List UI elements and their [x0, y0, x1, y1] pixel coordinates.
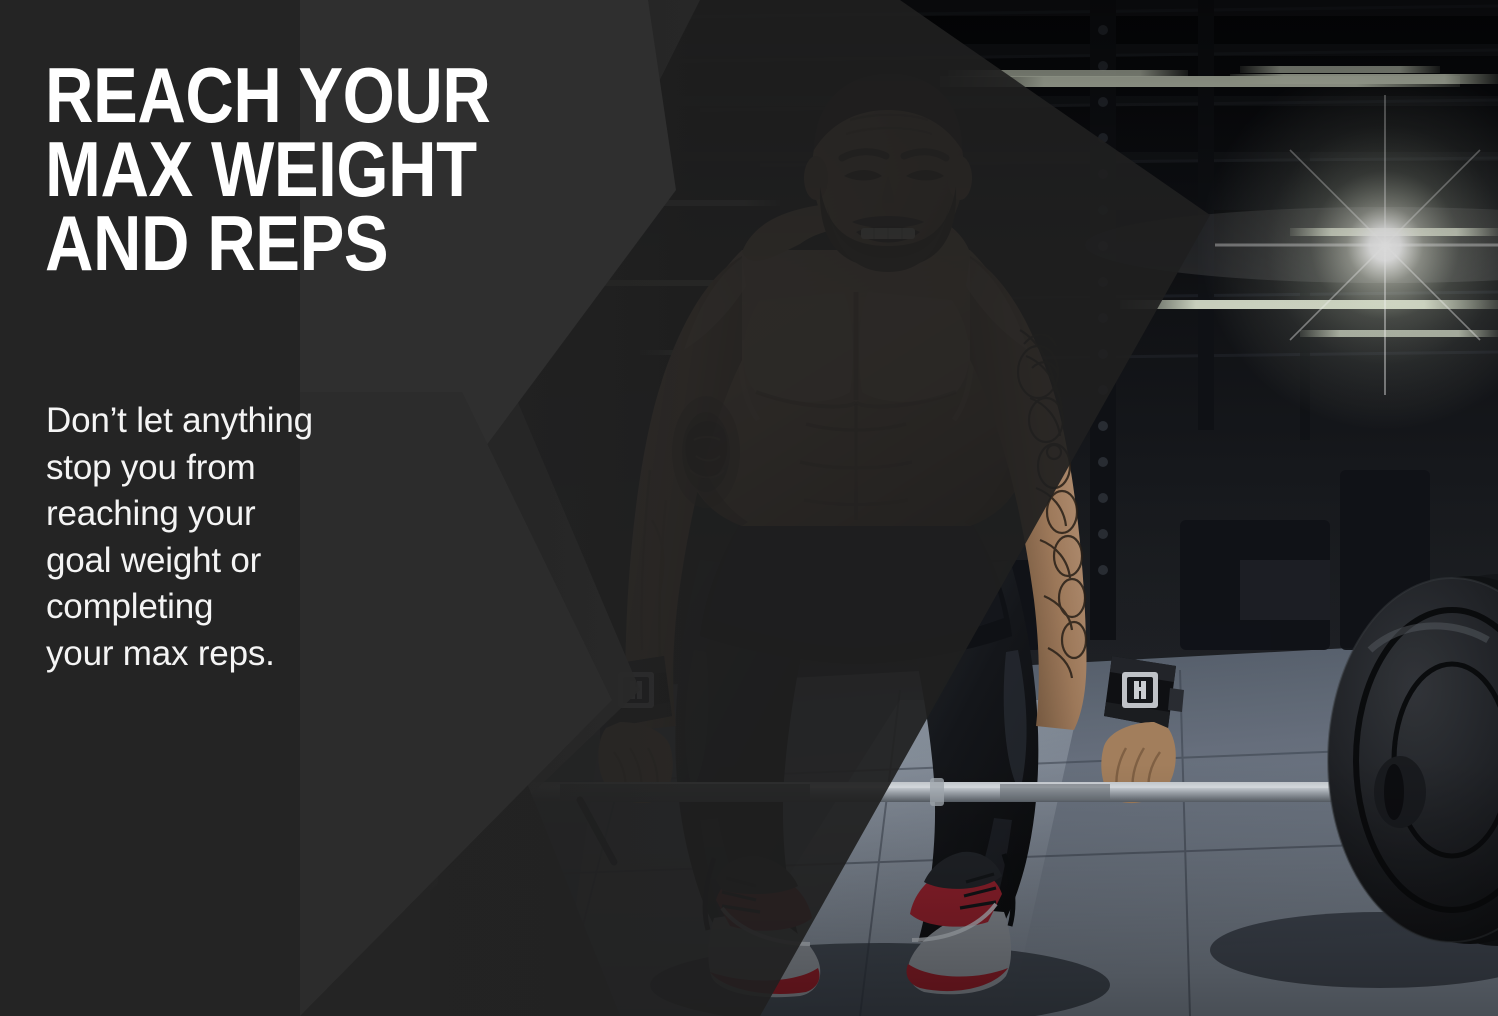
headline-line-3: AND REPS	[45, 206, 423, 280]
promo-banner: REACH YOUR MAX WEIGHT AND REPS Don’t let…	[0, 0, 1498, 1016]
headline-line-2: MAX WEIGHT	[45, 132, 423, 206]
subcopy-line-4: goal weight or	[46, 538, 406, 585]
page-title: REACH YOUR MAX WEIGHT AND REPS	[45, 58, 423, 280]
headline-line-1: REACH YOUR	[45, 58, 423, 132]
subcopy-line-2: stop you from	[46, 445, 406, 492]
subheadline-copy: Don’t let anything stop you from reachin…	[46, 398, 406, 677]
subcopy-line-3: reaching your	[46, 491, 406, 538]
subcopy-line-1: Don’t let anything	[46, 398, 406, 445]
subcopy-line-5: completing	[46, 584, 406, 631]
subcopy-line-6: your max reps.	[46, 631, 406, 678]
copy-block: REACH YOUR MAX WEIGHT AND REPS Don’t let…	[0, 0, 520, 1016]
